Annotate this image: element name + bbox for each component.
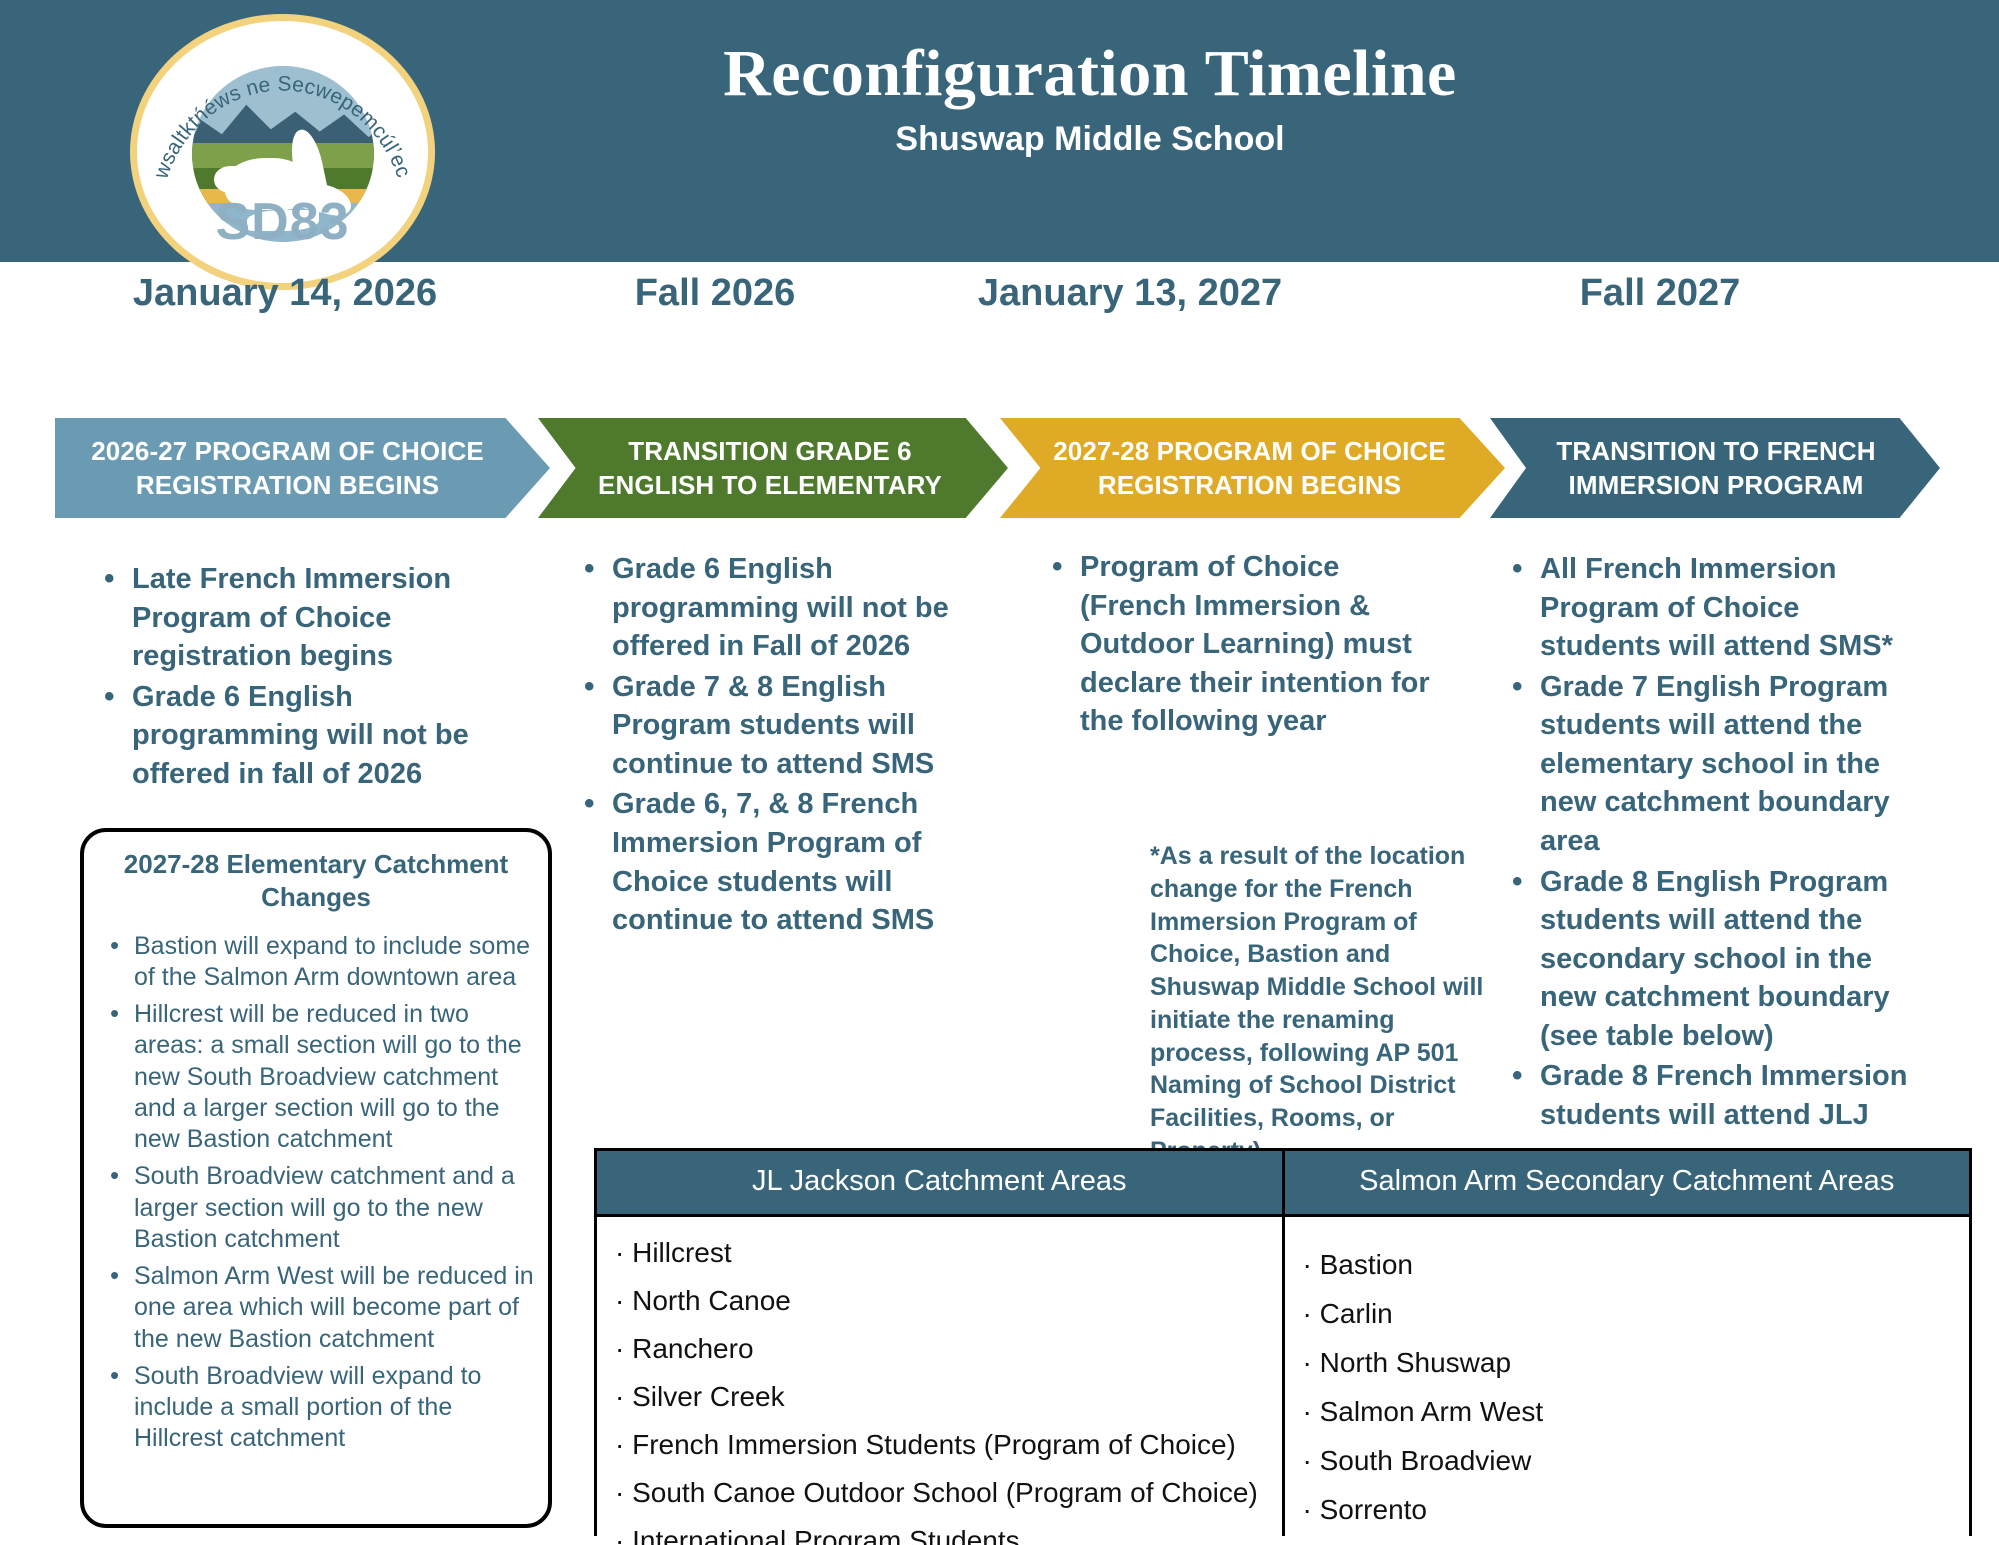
list-item: South Broadview catchment and a larger s… [98, 1161, 534, 1255]
table-row: · International Program Students [615, 1527, 1264, 1545]
table-row: · Ranchero [615, 1335, 1264, 1363]
table-column-salmon-arm-secondary: Salmon Arm Secondary Catchment Areas · B… [1285, 1151, 1970, 1533]
list-item: Bastion will expand to include some of t… [98, 931, 534, 994]
bullet-list-2: Program of Choice (French Immersion & Ou… [1040, 548, 1440, 741]
timeline-banner-0: 2026-27 PROGRAM OF CHOICE REGISTRATION B… [55, 418, 550, 518]
list-item: Program of Choice (French Immersion & Ou… [1040, 548, 1440, 741]
list-item: South Broadview will expand to include a… [98, 1361, 534, 1455]
timeline-column-0: Late French Immersion Program of Choice … [92, 560, 492, 795]
logo-arc-label: K̓wsaltktńéws ne Secwepemcúlʼecw [130, 14, 415, 183]
timeline-dates: January 14, 2026 Fall 2026 January 13, 2… [0, 272, 1999, 328]
list-item: Grade 8 French Immersion students will a… [1500, 1057, 1920, 1134]
page-subtitle: Shuswap Middle School [440, 120, 1740, 159]
timeline-date-2: January 13, 2027 [880, 272, 1380, 315]
asterisk-footnote: *As a result of the location change for … [1150, 840, 1500, 1168]
timeline-column-1: Grade 6 English programming will not be … [572, 550, 962, 942]
logo-district-code: SD83 [130, 192, 435, 252]
catchment-changes-list: Bastion will expand to include some of t… [98, 931, 534, 1455]
list-item: Grade 7 & 8 English Program students wil… [572, 668, 962, 784]
bullet-list-0: Late French Immersion Program of Choice … [92, 560, 492, 793]
table-row: · Carlin [1303, 1300, 1952, 1328]
table-row: · North Canoe [615, 1287, 1264, 1315]
table-row: · Sorrento [1303, 1496, 1952, 1524]
column-header: Salmon Arm Secondary Catchment Areas [1285, 1151, 1970, 1217]
table-row: · Hillcrest [615, 1239, 1264, 1267]
timeline-date-1: Fall 2026 [530, 272, 900, 315]
timeline-banner-3: TRANSITION TO FRENCH IMMERSION PROGRAM [1490, 418, 1940, 518]
catchment-changes-title: 2027-28 Elementary Catchment Changes [98, 848, 534, 915]
timeline-date-0: January 14, 2026 [50, 272, 520, 315]
page-title: Reconfiguration Timeline [440, 36, 1740, 112]
list-item: Grade 6, 7, & 8 French Immersion Program… [572, 785, 962, 939]
table-column-jl-jackson: JL Jackson Catchment Areas · Hillcrest ·… [597, 1151, 1285, 1533]
list-item: Grade 6 English programming will not be … [572, 550, 962, 666]
timeline-column-3: All French Immersion Program of Choice s… [1500, 550, 1920, 1136]
list-item: Grade 8 English Program students will at… [1500, 863, 1920, 1056]
infographic-page: K̓wsaltktńéws ne Secwepemcúlʼecw SD83 Re… [0, 0, 1999, 1545]
bullet-list-1: Grade 6 English programming will not be … [572, 550, 962, 940]
catchment-changes-box: 2027-28 Elementary Catchment Changes Bas… [80, 828, 552, 1528]
column-header: JL Jackson Catchment Areas [597, 1151, 1282, 1217]
table-row: · North Shuswap [1303, 1349, 1952, 1377]
table-row: · South Canoe Outdoor School (Program of… [615, 1479, 1264, 1507]
timeline-date-3: Fall 2027 [1400, 272, 1920, 315]
list-item: Salmon Arm West will be reduced in one a… [98, 1261, 534, 1355]
timeline-arrows: 2026-27 PROGRAM OF CHOICE REGISTRATION B… [0, 418, 1999, 518]
list-item: All French Immersion Program of Choice s… [1500, 550, 1920, 666]
table-row: · Salmon Arm West [1303, 1398, 1952, 1426]
table-row: · French Immersion Students (Program of … [615, 1431, 1264, 1459]
timeline-banner-1: TRANSITION GRADE 6 ENGLISH TO ELEMENTARY [538, 418, 1008, 518]
bullet-list-3: All French Immersion Program of Choice s… [1500, 550, 1920, 1134]
catchment-areas-table: JL Jackson Catchment Areas · Hillcrest ·… [594, 1148, 1972, 1536]
table-body: · Hillcrest · North Canoe · Ranchero · S… [597, 1217, 1282, 1545]
table-row: · Silver Creek [615, 1383, 1264, 1411]
table-row: · Bastion [1303, 1251, 1952, 1279]
list-item: Late French Immersion Program of Choice … [92, 560, 492, 676]
list-item: Grade 7 English Program students will at… [1500, 668, 1920, 861]
list-item: Grade 6 English programming will not be … [92, 678, 492, 794]
timeline-banner-2: 2027-28 PROGRAM OF CHOICE REGISTRATION B… [1000, 418, 1505, 518]
list-item: Hillcrest will be reduced in two areas: … [98, 999, 534, 1155]
table-body: · Bastion · Carlin · North Shuswap · Sal… [1285, 1217, 1970, 1545]
sd83-logo: K̓wsaltktńéws ne Secwepemcúlʼecw SD83 [130, 14, 435, 294]
table-row: · South Broadview [1303, 1447, 1952, 1475]
timeline-column-2: Program of Choice (French Immersion & Ou… [1040, 548, 1440, 743]
